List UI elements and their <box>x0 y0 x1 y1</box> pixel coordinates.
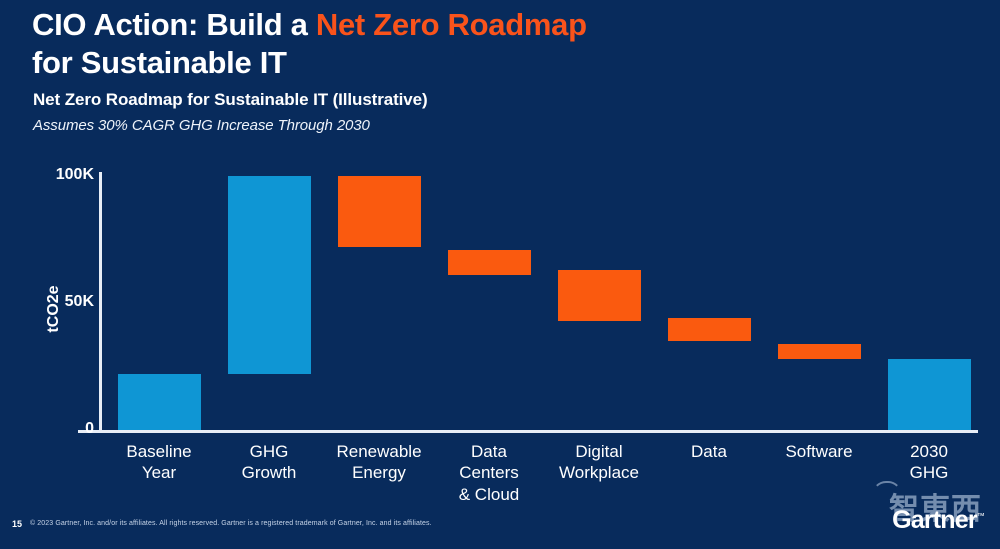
x-axis-label-line: & Cloud <box>459 485 519 504</box>
bar-software <box>778 344 861 359</box>
bar-data <box>668 318 751 341</box>
x-axis-label-ghg-growth: GHGGrowth <box>214 441 324 484</box>
x-axis-label-line: Energy <box>352 463 406 482</box>
x-axis-label-line: Year <box>142 463 176 482</box>
y-axis-tick-label: 50K <box>30 293 94 311</box>
x-axis-label-data: Data <box>654 441 764 462</box>
x-axis-label-line: Growth <box>242 463 297 482</box>
x-axis-label-renewable-energy: RenewableEnergy <box>324 441 434 484</box>
slide-root: CIO Action: Build a Net Zero Roadmap for… <box>0 0 1000 549</box>
gartner-logo-text: Gartner <box>892 506 977 534</box>
bar-baseline-year <box>118 374 201 430</box>
bar-digital-workplace <box>558 270 641 321</box>
x-axis-label-line: Renewable <box>336 442 421 461</box>
x-axis-label-software: Software <box>764 441 874 462</box>
x-axis-label-line: Baseline <box>126 442 191 461</box>
x-axis-label-line: Data <box>471 442 507 461</box>
bar-data-centers-cloud <box>448 250 531 275</box>
x-axis-label-2030-ghg: 2030GHG <box>874 441 984 484</box>
x-axis-label-line: GHG <box>250 442 289 461</box>
x-axis-label-line: Workplace <box>559 463 639 482</box>
y-axis-tick-label: 100K <box>30 166 94 184</box>
x-axis-line <box>78 430 978 433</box>
bar-ghg-growth <box>228 176 311 374</box>
x-axis-label-digital-workplace: DigitalWorkplace <box>544 441 654 484</box>
x-axis-label-baseline-year: BaselineYear <box>104 441 214 484</box>
x-axis-label-data-centers-cloud: DataCenters& Cloud <box>434 441 544 505</box>
x-axis-label-line: Centers <box>459 463 519 482</box>
x-axis-label-line: 2030 <box>910 442 948 461</box>
trademark-symbol: ™ <box>977 512 984 521</box>
x-axis-label-line: Data <box>691 442 727 461</box>
y-axis-tick-label: 0 <box>30 420 94 438</box>
page-number: 15 <box>12 519 22 529</box>
waterfall-chart: tCO2e 050K100K BaselineYearGHGGrowthRene… <box>0 0 1000 549</box>
gartner-logo: Gartner™ <box>892 506 984 535</box>
x-axis-label-line: GHG <box>910 463 949 482</box>
x-axis-label-line: Software <box>785 442 852 461</box>
y-axis-line <box>99 172 102 432</box>
bar-2030-ghg <box>888 359 971 430</box>
bar-renewable-energy <box>338 176 421 247</box>
copyright-text: © 2023 Gartner, Inc. and/or its affiliat… <box>30 520 432 527</box>
x-axis-label-line: Digital <box>575 442 622 461</box>
